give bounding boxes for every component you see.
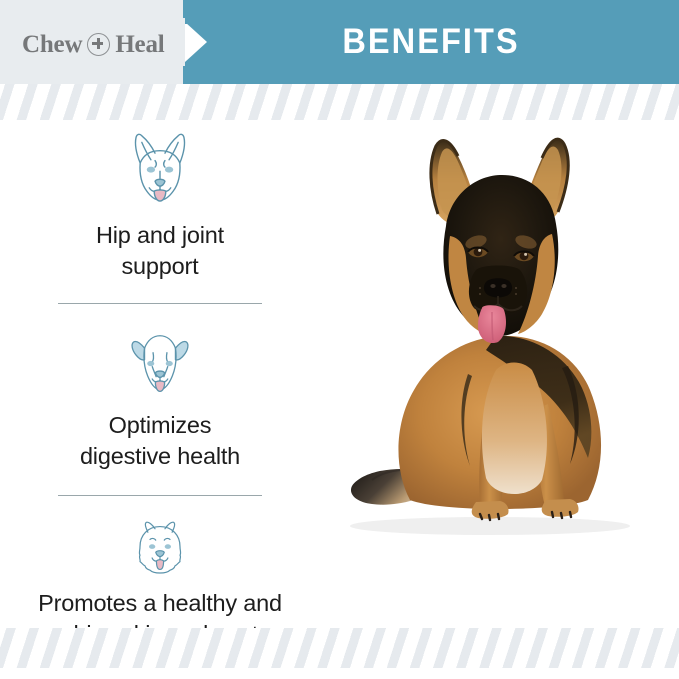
logo-text-chew: Chew [22, 32, 82, 57]
header-bar: Chew Heal BENEFITS [0, 0, 679, 84]
top-stripe-divider [0, 84, 679, 120]
benefits-list: Hip and joint support [0, 130, 320, 651]
benefits-infographic: Chew Heal BENEFITS [0, 0, 679, 679]
benefit-item-hip-and-joint: Hip and joint support [0, 130, 320, 283]
stripe-pattern [0, 84, 679, 120]
bottom-stripe-divider [0, 628, 679, 668]
fluffy-dog-head-icon [118, 518, 202, 578]
benefit-line-2: digestive health [15, 441, 305, 472]
terrier-dog-head-icon [118, 328, 202, 396]
stripe-pattern [0, 628, 679, 668]
brand-logo: Chew Heal [22, 27, 165, 61]
benefit-item-digestive-health: Optimizes digestive health [0, 328, 320, 473]
benefit-label: Hip and joint support [15, 220, 305, 283]
benefit-line-2: support [15, 251, 305, 282]
german-shepherd-sitting-photo [290, 118, 679, 558]
circled-plus-icon [87, 33, 110, 56]
benefit-line-1: Optimizes [15, 410, 305, 441]
page-title: BENEFITS [200, 0, 661, 84]
benefit-label: Optimizes digestive health [15, 410, 305, 473]
logo-text-heal: Heal [115, 32, 164, 57]
benefit-line-1: Promotes a healthy and [3, 588, 318, 619]
corgi-dog-head-icon [118, 130, 202, 206]
benefit-line-1: Hip and joint [15, 220, 305, 251]
